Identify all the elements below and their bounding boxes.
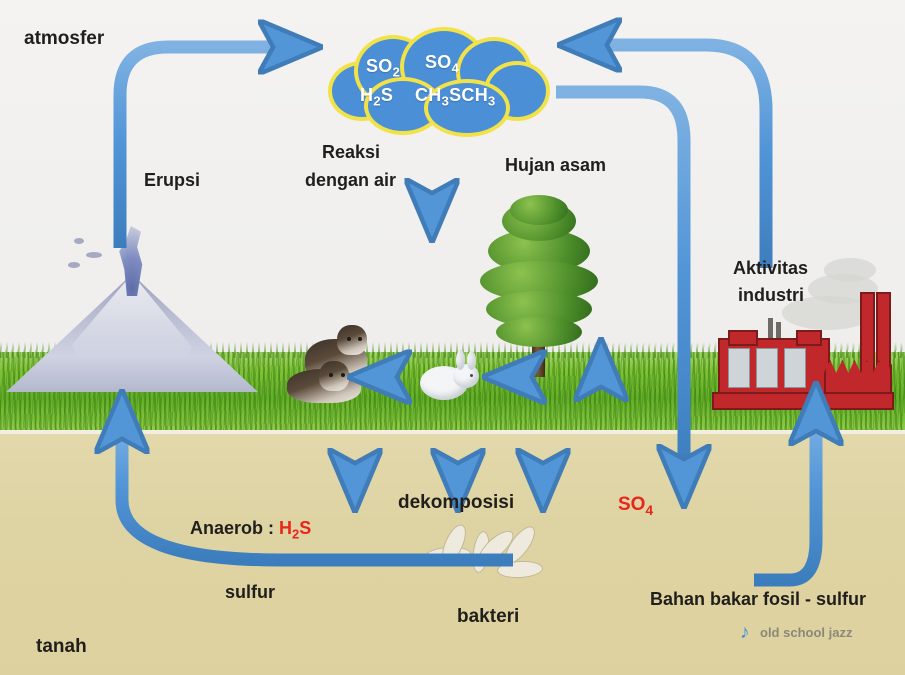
volcano-ash (86, 252, 102, 258)
tree-canopy (496, 317, 582, 347)
dog-eye (358, 337, 362, 341)
rabbit-eye (470, 374, 473, 377)
formula-h2s: H2S (360, 85, 393, 109)
factory-window (784, 348, 806, 388)
bacterium (437, 521, 471, 567)
label-bahan-bakar-fosil: Bahan bakar fosil - sulfur (650, 589, 866, 610)
dog-head-back (337, 325, 367, 355)
formula-so2: SO2 (366, 56, 400, 80)
factory-roof-step (728, 330, 758, 346)
dog-eye (341, 373, 345, 377)
volcano (0, 272, 282, 392)
factory (712, 308, 890, 412)
factory-base (712, 392, 894, 410)
label-dekomposisi: dekomposisi (398, 492, 514, 514)
atmosphere-cloud: SO2 SO4 H2S CH3SCH3 (332, 31, 548, 139)
label-hujan-asam: Hujan asam (505, 155, 606, 176)
dog-eye (347, 337, 351, 341)
rabbit-ear (467, 351, 476, 370)
label-tanah: tanah (36, 636, 87, 658)
sulfur-cycle-diagram: SO2 SO4 H2S CH3SCH3 (0, 0, 905, 675)
smoke-puff (824, 258, 876, 282)
label-aktivitas-line2: industri (738, 285, 804, 306)
label-anaerob-prefix: Anaerob : (190, 518, 279, 538)
dogs (285, 325, 395, 407)
factory-window (756, 348, 778, 388)
bacterium (497, 560, 544, 579)
factory-small-pipe (768, 318, 773, 340)
tree (480, 195, 598, 380)
factory-window (728, 348, 750, 388)
label-erupsi: Erupsi (144, 170, 200, 191)
label-reaksi-line1: Reaksi (322, 142, 380, 163)
rabbit (420, 352, 484, 402)
watermark-text: old school jazz (760, 625, 852, 640)
dog-eye (329, 373, 333, 377)
cloud-formula-group: SO2 SO4 H2S CH3SCH3 (332, 31, 548, 139)
formula-ch3sch3: CH3SCH3 (415, 85, 496, 109)
label-atmosfer: atmosfer (24, 28, 104, 50)
tree-canopy (510, 195, 568, 225)
factory-roof-step (796, 330, 822, 346)
label-aktivitas-line1: Aktivitas (733, 258, 808, 279)
music-note-icon: ♪ (740, 622, 750, 644)
label-so4-soil: SO4 (618, 494, 653, 518)
label-anaerob-value: H2S (279, 518, 311, 538)
label-sulfur: sulfur (225, 582, 275, 603)
volcano-ash (74, 238, 84, 244)
label-anaerob: Anaerob : H2S (190, 518, 311, 542)
label-reaksi-line2: dengan air (305, 170, 396, 191)
formula-so4: SO4 (425, 52, 459, 76)
label-bakteri: bakteri (457, 606, 519, 628)
bacteria-cluster (425, 523, 570, 588)
rabbit-ear (456, 350, 465, 370)
volcano-ash (68, 262, 80, 268)
